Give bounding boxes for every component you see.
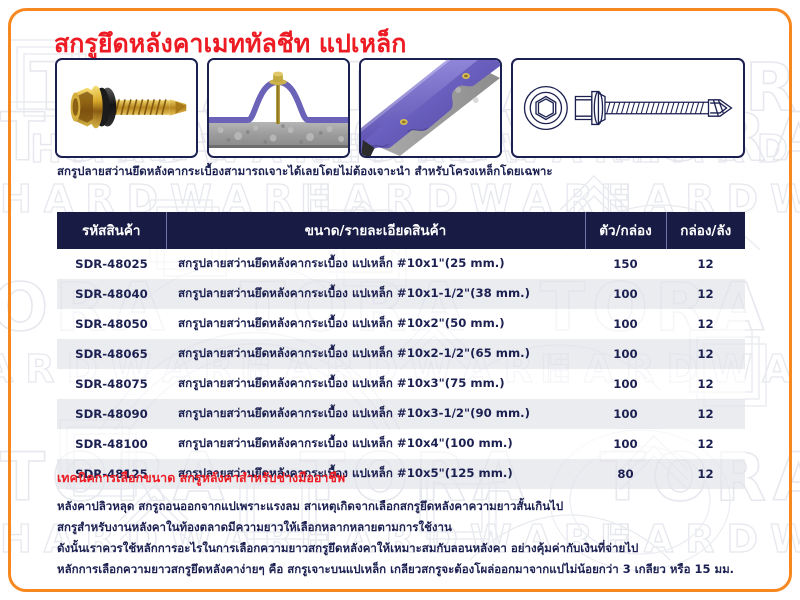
col-header-detail: ขนาด/รายละเอียดสินค้า	[166, 212, 585, 249]
table-row: SDR-48100สกรูปลายสว่านยึดหลังคากระเบื้อง…	[57, 429, 745, 459]
cell-box-per-crate: 12	[666, 399, 745, 429]
cell-product-detail: สกรูปลายสว่านยึดหลังคากระเบื้อง แปเหล็ก …	[166, 279, 585, 309]
cell-product-detail: สกรูปลายสว่านยึดหลังคากระเบื้อง แปเหล็ก …	[166, 399, 585, 429]
product-spec-page: TORA HARDWARE	[0, 0, 800, 600]
table-row: SDR-48025สกรูปลายสว่านยึดหลังคากระเบื้อง…	[57, 249, 745, 279]
tips-heading: เทคนิคการเลือกขนาด สกรูหลังคาสำหรับช่างม…	[57, 468, 757, 488]
panel-photo-screw-with-washer	[55, 58, 198, 158]
tips-line: ดังนั้นเราควรใช้หลักการอะไรในการเลือกควา…	[57, 538, 757, 559]
cell-product-code: SDR-48100	[57, 429, 166, 459]
table-row: SDR-48040สกรูปลายสว่านยึดหลังคากระเบื้อง…	[57, 279, 745, 309]
cell-box-per-crate: 12	[666, 309, 745, 339]
panel-diagram-arch-cross-section	[207, 58, 350, 158]
table-header-row: รหัสสินค้า ขนาด/รายละเอียดสินค้า ตัว/กล่…	[57, 212, 745, 249]
cell-product-code: SDR-48040	[57, 279, 166, 309]
spec-table-body: SDR-48025สกรูปลายสว่านยึดหลังคากระเบื้อง…	[57, 249, 745, 489]
cell-box-per-crate: 12	[666, 279, 745, 309]
tips-lines: หลังคาปลิวหลุด สกรูถอนออกจากแปเพราะแรงลม…	[57, 496, 757, 580]
cell-product-detail: สกรูปลายสว่านยึดหลังคากระเบื้อง แปเหล็ก …	[166, 309, 585, 339]
cell-per-box: 100	[585, 309, 666, 339]
tips-line: หลังคาปลิวหลุด สกรูถอนออกจากแปเพราะแรงลม…	[57, 496, 757, 517]
cell-product-detail: สกรูปลายสว่านยึดหลังคากระเบื้อง แปเหล็ก …	[166, 369, 585, 399]
tips-block: เทคนิคการเลือกขนาด สกรูหลังคาสำหรับช่างม…	[57, 468, 757, 580]
cell-per-box: 100	[585, 279, 666, 309]
cell-per-box: 100	[585, 339, 666, 369]
product-description: สกรูปลายสว่านยึดหลังคากระเบื้องสามารถเจา…	[57, 163, 553, 181]
cell-product-code: SDR-48075	[57, 369, 166, 399]
spec-table: รหัสสินค้า ขนาด/รายละเอียดสินค้า ตัว/กล่…	[57, 212, 745, 489]
table-row: SDR-48065สกรูปลายสว่านยึดหลังคากระเบื้อง…	[57, 339, 745, 369]
cell-per-box: 100	[585, 429, 666, 459]
col-header-box-per-crate: กล่อง/ลัง	[666, 212, 745, 249]
cell-per-box: 100	[585, 399, 666, 429]
cell-product-code: SDR-48065	[57, 339, 166, 369]
cell-product-code: SDR-48025	[57, 249, 166, 279]
cell-product-code: SDR-48050	[57, 309, 166, 339]
table-row: SDR-48075สกรูปลายสว่านยึดหลังคากระเบื้อง…	[57, 369, 745, 399]
cell-box-per-crate: 12	[666, 429, 745, 459]
cell-product-detail: สกรูปลายสว่านยึดหลังคากระเบื้อง แปเหล็ก …	[166, 339, 585, 369]
spec-table-wrapper: รหัสสินค้า ขนาด/รายละเอียดสินค้า ตัว/กล่…	[57, 212, 745, 489]
panel-diagram-corrugated-sheet	[359, 58, 502, 158]
table-row: SDR-48050สกรูปลายสว่านยึดหลังคากระเบื้อง…	[57, 309, 745, 339]
cell-box-per-crate: 12	[666, 249, 745, 279]
cell-product-code: SDR-48090	[57, 399, 166, 429]
spec-table-head: รหัสสินค้า ขนาด/รายละเอียดสินค้า ตัว/กล่…	[57, 212, 745, 249]
tips-line: สกรูสำหรับงานหลังคาในท้องตลาดมีความยาวให…	[57, 517, 757, 538]
image-panel-strip	[55, 58, 745, 158]
col-header-code: รหัสสินค้า	[57, 212, 166, 249]
panel-technical-drawing-screw	[511, 58, 745, 158]
cell-box-per-crate: 12	[666, 369, 745, 399]
table-row: SDR-48090สกรูปลายสว่านยึดหลังคากระเบื้อง…	[57, 399, 745, 429]
cell-product-detail: สกรูปลายสว่านยึดหลังคากระเบื้อง แปเหล็ก …	[166, 249, 585, 279]
col-header-per-box: ตัว/กล่อง	[585, 212, 666, 249]
cell-per-box: 150	[585, 249, 666, 279]
cell-product-detail: สกรูปลายสว่านยึดหลังคากระเบื้อง แปเหล็ก …	[166, 429, 585, 459]
cell-per-box: 100	[585, 369, 666, 399]
cell-box-per-crate: 12	[666, 339, 745, 369]
tips-line: หลักการเลือกความยาวสกรูยึดหลังคาง่ายๆ คื…	[57, 559, 757, 580]
